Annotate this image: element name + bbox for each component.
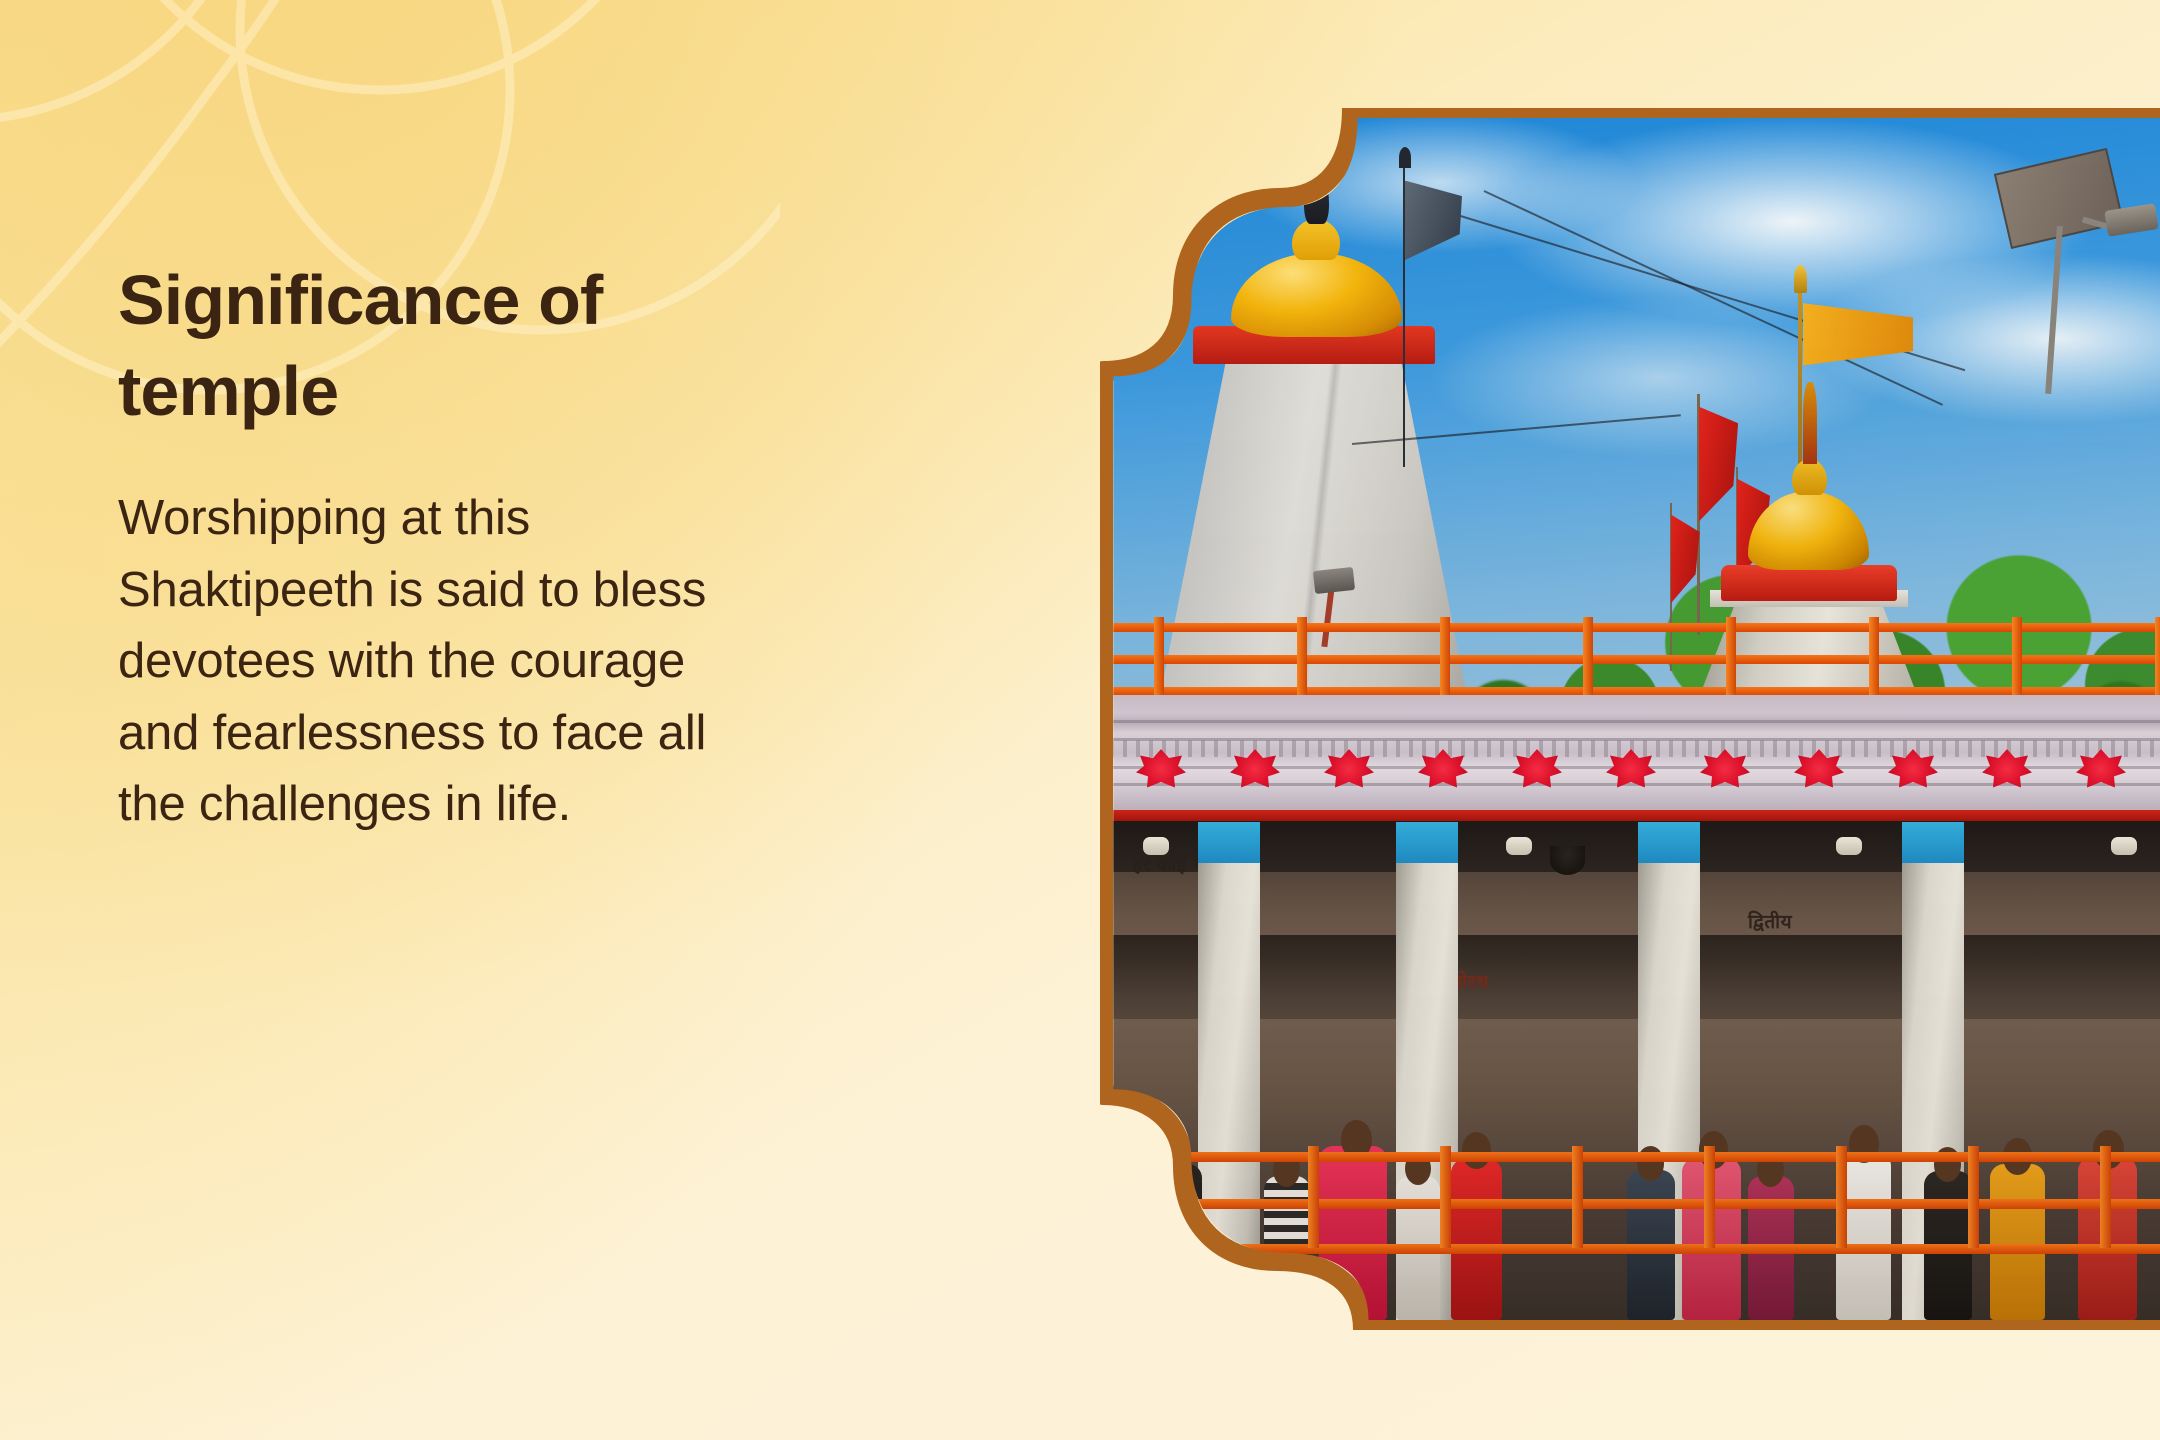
temple-photo-card: हर कोई मः द्वितीय मनोरथ [1100,108,2160,1330]
page-title: Significance of temple [118,255,648,437]
body-paragraph: Worshipping at this Shaktipeeth is said … [118,483,730,841]
photo-colour-grade [1110,118,2160,1320]
text-column: Significance of temple Worshipping at th… [118,255,758,841]
temple-photo: हर कोई मः द्वितीय मनोरथ [1110,118,2160,1320]
